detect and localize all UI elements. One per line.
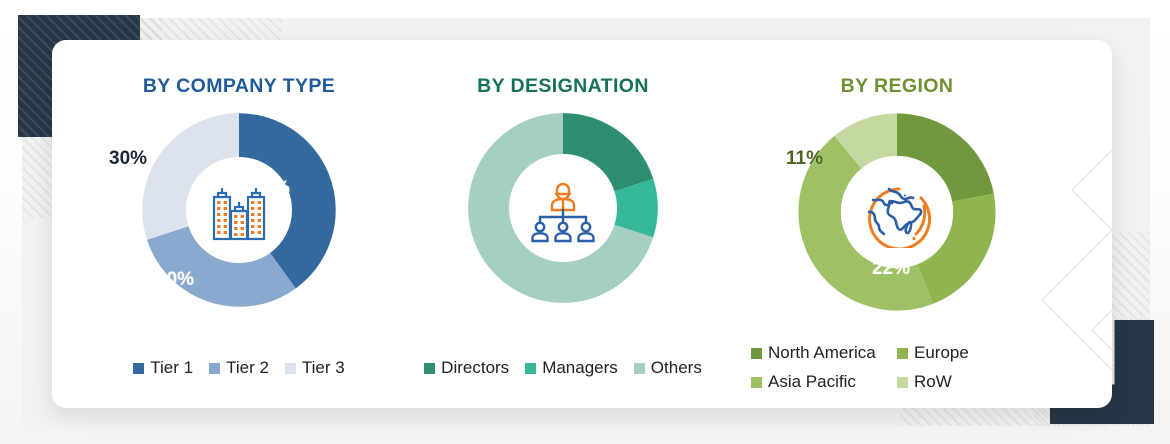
office-buildings-icon <box>196 169 282 255</box>
legend-label: Managers <box>542 358 618 378</box>
legend-label: Europe <box>914 343 969 363</box>
legend-label: Others <box>651 358 702 378</box>
legend-item[interactable]: North America <box>751 343 897 363</box>
company-type-label-tier2: 30% <box>156 269 194 291</box>
legend-swatch-europe <box>897 348 908 359</box>
company-type-label-tier3: 30% <box>109 148 147 170</box>
legend-swatch-others <box>634 363 645 374</box>
region-donut-wrap: 22% 22% 45% 11% <box>722 106 1072 318</box>
org-chart-people-icon <box>520 169 606 255</box>
company-type-legend: Tier 1 Tier 2 Tier 3 <box>74 358 404 378</box>
designation-label-others: 70% <box>433 254 471 276</box>
legend-item[interactable]: Directors <box>424 358 509 378</box>
legend-item[interactable]: Europe <box>897 343 1043 363</box>
legend-label: Tier 1 <box>150 358 193 378</box>
legend-swatch-tier3 <box>285 363 296 374</box>
panel-region: BY REGION 22% 22% 45% 11% <box>722 40 1072 408</box>
legend-label: Directors <box>441 358 509 378</box>
company-type-title: BY COMPANY TYPE <box>74 75 404 98</box>
designation-title: BY DESIGNATION <box>404 75 722 98</box>
legend-label: Asia Pacific <box>768 372 856 392</box>
legend-swatch-asia-pacific <box>751 377 762 388</box>
designation-donut-wrap: 20% 10% 70% <box>404 106 722 318</box>
legend-item[interactable]: Others <box>634 358 702 378</box>
region-label-asia-pacific: 45% <box>747 244 785 266</box>
globe-icon <box>854 169 940 255</box>
legend-swatch-managers <box>525 363 536 374</box>
legend-item[interactable]: Managers <box>525 358 618 378</box>
legend-label: Tier 2 <box>226 358 269 378</box>
legend-swatch-tier1 <box>133 363 144 374</box>
infographic-canvas: BY COMPANY TYPE 40% 30% 30% <box>0 0 1170 444</box>
legend-label: Tier 3 <box>302 358 345 378</box>
legend-label: RoW <box>914 372 952 392</box>
panel-designation: BY DESIGNATION 20% 10% 70% <box>404 40 722 408</box>
legend-swatch-north-america <box>751 348 762 359</box>
legend-item[interactable]: RoW <box>897 372 1043 392</box>
legend-swatch-directors <box>424 363 435 374</box>
legend-swatch-row <box>897 377 908 388</box>
legend-label: North America <box>768 343 876 363</box>
legend-item[interactable]: Tier 3 <box>285 358 345 378</box>
region-title: BY REGION <box>722 75 1072 98</box>
designation-legend: Directors Managers Others <box>404 358 722 378</box>
region-label-row: 11% <box>786 148 823 170</box>
company-type-donut-wrap: 40% 30% 30% <box>74 106 404 318</box>
region-legend: North America Europe Asia Pacific RoW <box>751 343 1043 392</box>
region-label-europe: 22% <box>872 258 910 280</box>
legend-item[interactable]: Asia Pacific <box>751 372 897 392</box>
legend-item[interactable]: Tier 1 <box>133 358 193 378</box>
legend-item[interactable]: Tier 2 <box>209 358 269 378</box>
panel-company-type: BY COMPANY TYPE 40% 30% 30% <box>74 40 404 408</box>
legend-swatch-tier2 <box>209 363 220 374</box>
stats-card: BY COMPANY TYPE 40% 30% 30% <box>52 40 1112 408</box>
